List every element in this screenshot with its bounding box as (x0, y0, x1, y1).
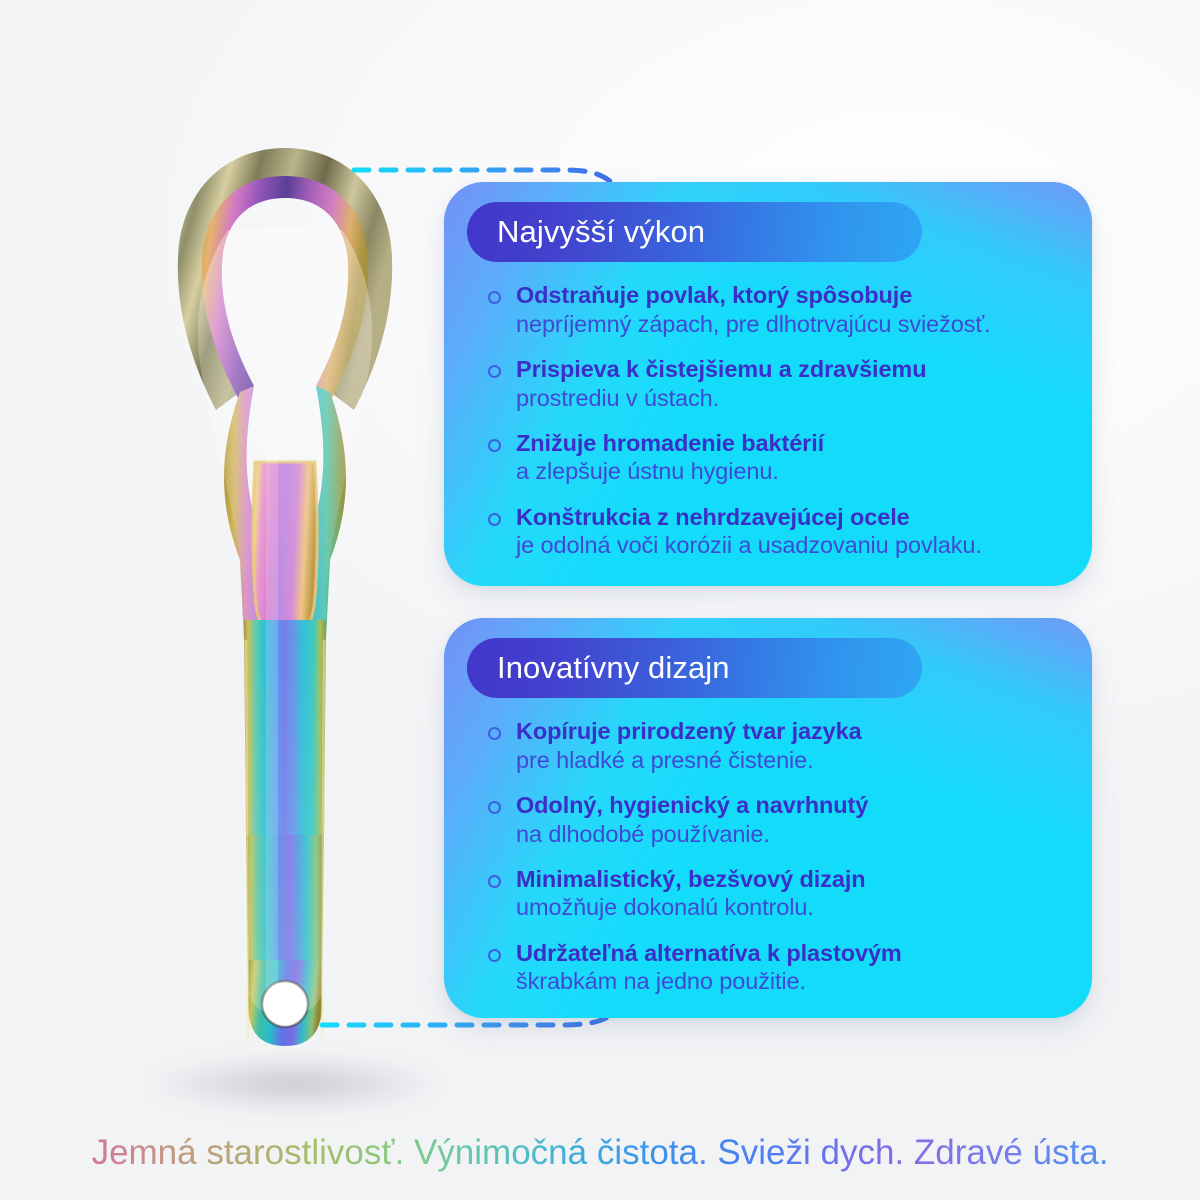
circle-bullet-icon (488, 365, 501, 378)
scraper-head-inner-ring (202, 176, 368, 398)
bullet-headline: Minimalistický, bezšvový dizajn (516, 866, 1068, 894)
scraper-thumb-rest (253, 462, 317, 642)
list-item: Odstraňuje povlak, ktorý spôsobuje neprí… (488, 282, 1068, 339)
bullet-text: Odolný, hygienický a navrhnutý na dlhodo… (516, 792, 1068, 849)
card-design-title: Inovatívny dizajn (467, 638, 922, 698)
bullet-subtext: prostrediu v ústach. (516, 384, 1068, 413)
circle-bullet-icon (488, 949, 501, 962)
list-item: Udržateľná alternatíva k plastovým škrab… (488, 940, 1068, 997)
bullet-headline: Prispieva k čistejšiemu a zdravšiemu (516, 356, 1068, 384)
circle-bullet-icon (488, 291, 501, 304)
bullet-text: Kopíruje prirodzený tvar jazyka pre hlad… (516, 718, 1068, 775)
circle-bullet-icon (488, 513, 501, 526)
product-image-tongue-scraper (140, 120, 430, 1080)
card-performance-bullets: Odstraňuje povlak, ktorý spôsobuje neprí… (488, 282, 1068, 577)
list-item: Znižuje hromadenie baktérií a zlepšuje ú… (488, 430, 1068, 487)
card-design: Inovatívny dizajn Kopíruje prirodzený tv… (444, 618, 1092, 1018)
bullet-headline: Znižuje hromadenie baktérií (516, 430, 1068, 458)
list-item: Kopíruje prirodzený tvar jazyka pre hlad… (488, 718, 1068, 775)
circle-bullet-icon (488, 801, 501, 814)
bullet-text: Udržateľná alternatíva k plastovým škrab… (516, 940, 1068, 997)
card-design-bullets: Kopíruje prirodzený tvar jazyka pre hlad… (488, 718, 1068, 1013)
bullet-subtext: umožňuje dokonalú kontrolu. (516, 893, 1068, 922)
bullet-subtext: pre hladké a presné čistenie. (516, 746, 1068, 775)
card-performance: Najvyšší výkon Odstraňuje povlak, ktorý … (444, 182, 1092, 586)
list-item: Konštrukcia z nehrdzavejúcej ocele je od… (488, 504, 1068, 561)
bullet-text: Znižuje hromadenie baktérií a zlepšuje ú… (516, 430, 1068, 487)
bullet-headline: Odstraňuje povlak, ktorý spôsobuje (516, 282, 1068, 310)
bullet-subtext: škrabkám na jedno použitie. (516, 967, 1068, 996)
circle-bullet-icon (488, 727, 501, 740)
bullet-text: Konštrukcia z nehrdzavejúcej ocele je od… (516, 504, 1068, 561)
bullet-subtext: a zlepšuje ústnu hygienu. (516, 457, 1068, 486)
circle-bullet-icon (488, 875, 501, 888)
bullet-text: Minimalistický, bezšvový dizajn umožňuje… (516, 866, 1068, 923)
bullet-headline: Konštrukcia z nehrdzavejúcej ocele (516, 504, 1068, 532)
list-item: Minimalistický, bezšvový dizajn umožňuje… (488, 866, 1068, 923)
circle-bullet-icon (488, 439, 501, 452)
bullet-headline: Udržateľná alternatíva k plastovým (516, 940, 1068, 968)
list-item: Prispieva k čistejšiemu a zdravšiemu pro… (488, 356, 1068, 413)
card-performance-title: Najvyšší výkon (467, 202, 922, 262)
bullet-headline: Kopíruje prirodzený tvar jazyka (516, 718, 1068, 746)
scraper-handle-upper (244, 620, 326, 840)
bullet-subtext: na dlhodobé používanie. (516, 820, 1068, 849)
infographic-canvas: Najvyšší výkon Odstraňuje povlak, ktorý … (0, 0, 1200, 1200)
scraper-handle-lower (246, 835, 324, 980)
list-item: Odolný, hygienický a navrhnutý na dlhodo… (488, 792, 1068, 849)
bullet-text: Odstraňuje povlak, ktorý spôsobuje neprí… (516, 282, 1068, 339)
tagline: Jemná starostlivosť. Výnimočná čistota. … (0, 1132, 1200, 1174)
bullet-text: Prispieva k čistejšiemu a zdravšiemu pro… (516, 356, 1068, 413)
bullet-headline: Odolný, hygienický a navrhnutý (516, 792, 1068, 820)
bullet-subtext: je odolná voči korózii a usadzovaniu pov… (516, 531, 1068, 560)
bullet-subtext: nepríjemný zápach, pre dlhotrvajúcu svie… (516, 310, 1068, 339)
